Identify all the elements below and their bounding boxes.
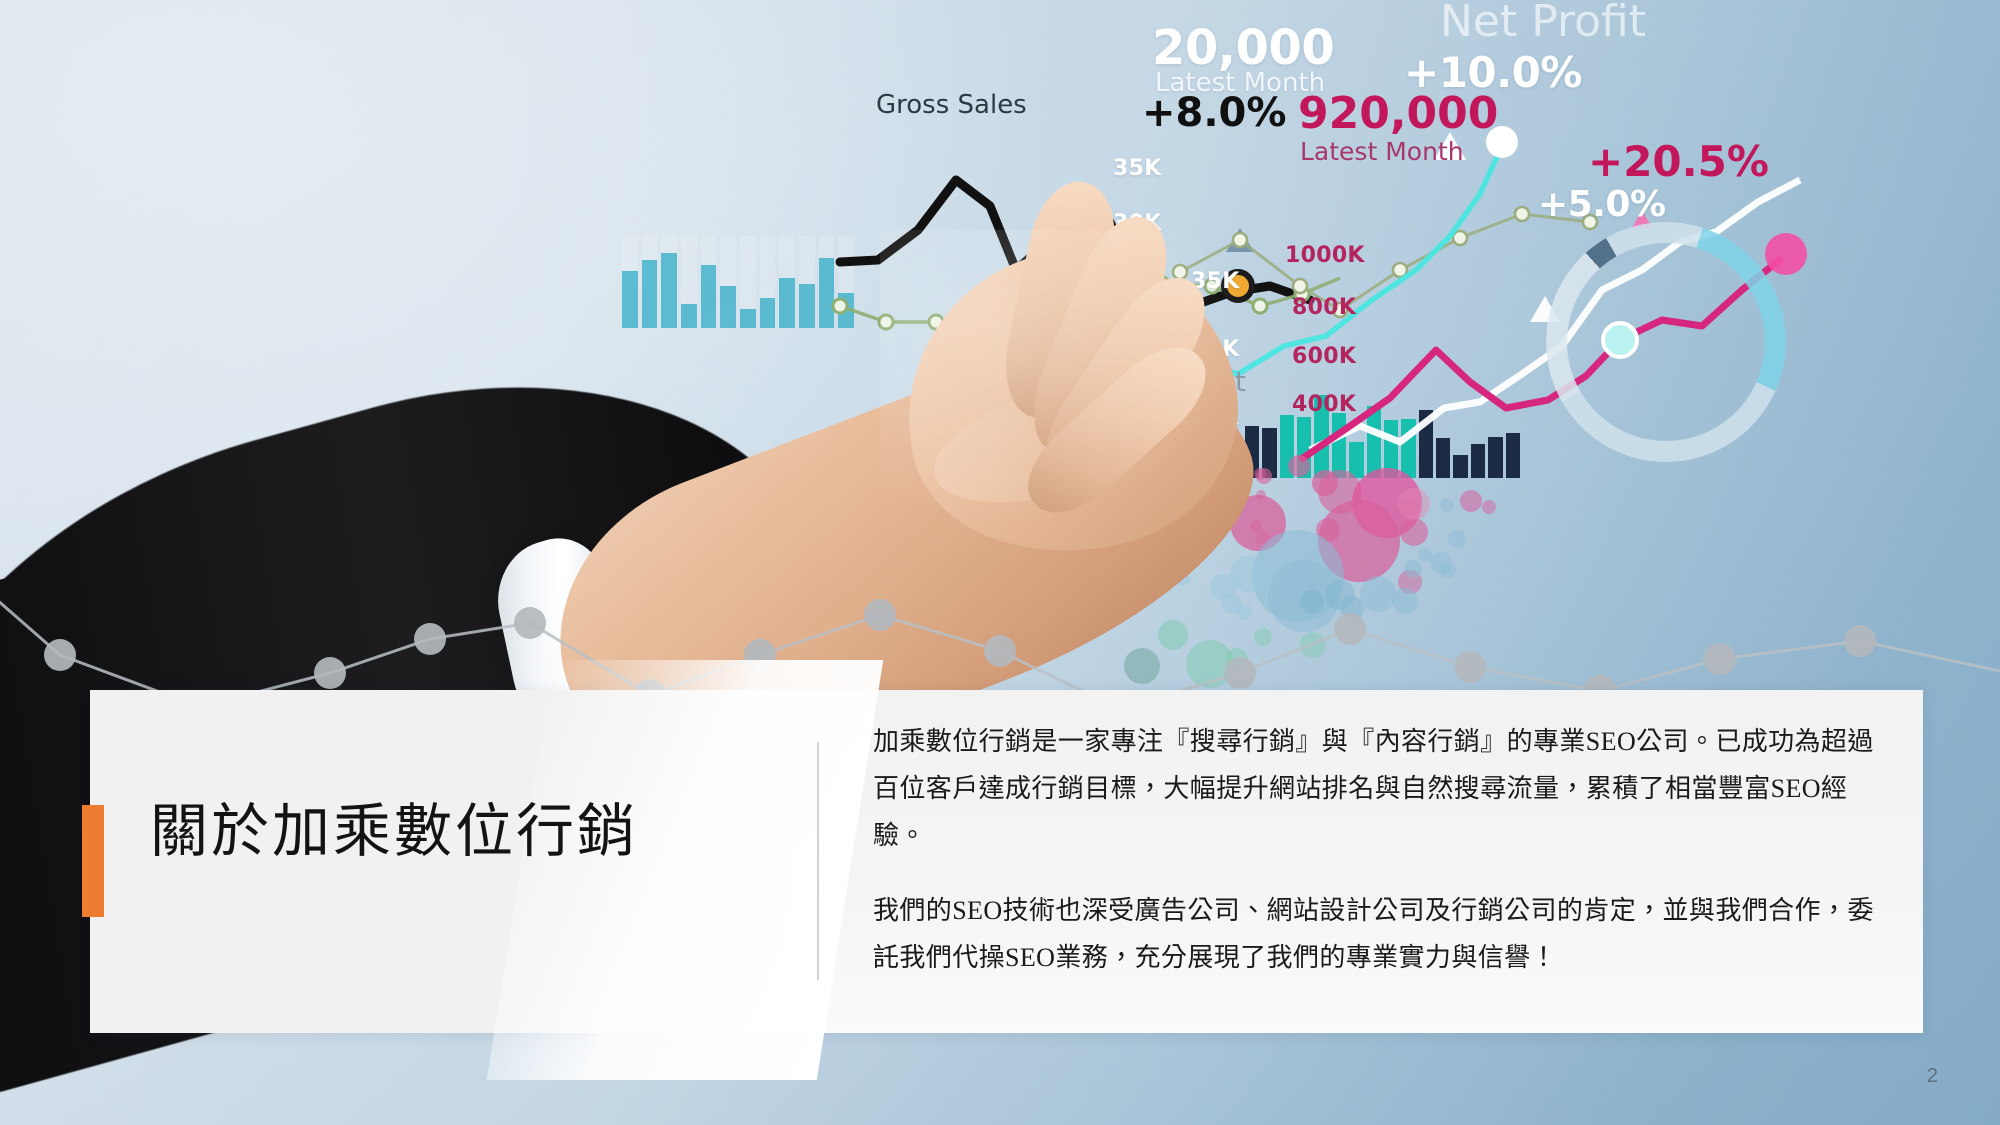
tick-right-400k: 400K — [1292, 392, 1356, 417]
tick-left-35k: 35K — [1113, 156, 1162, 181]
content-card: 關於加乘數位行銷 加乘數位行銷是一家專注『搜尋行銷』與『內容行銷』的專業SEO公… — [90, 690, 1923, 1033]
latest-month-revenue-caption: Latest Month — [1300, 137, 1464, 166]
share-donut-chart — [1546, 222, 1786, 462]
body-paragraph-2: 我們的SEO技術也深受廣告公司、網站設計公司及行銷公司的肯定，並與我們合作，委託… — [873, 887, 1883, 981]
slide-canvas: Gross Sales Net Profit Interest 20,000 L… — [0, 0, 2000, 1125]
latest-month-revenue-value: 920,000 — [1298, 88, 1498, 139]
tick-right-800k: 800K — [1292, 295, 1356, 320]
body-text: 加乘數位行銷是一家專注『搜尋行銷』與『內容行銷』的專業SEO公司。已成功為超過百… — [873, 718, 1883, 981]
gross-sales-label: Gross Sales — [876, 90, 1027, 120]
page-number: 2 — [1927, 1065, 1938, 1088]
vertical-divider — [817, 742, 819, 980]
gross-sales-delta-value: +8.0% — [1142, 90, 1286, 136]
tick-right-600k: 600K — [1292, 344, 1356, 369]
body-paragraph-1: 加乘數位行銷是一家專注『搜尋行銷』與『內容行銷』的專業SEO公司。已成功為超過百… — [873, 718, 1883, 859]
secondary-delta-value: +5.0% — [1538, 184, 1666, 225]
page-title: 關於加乘數位行銷 — [150, 784, 770, 868]
accent-bar — [82, 805, 104, 917]
left-mini-bars-chart — [622, 236, 854, 328]
tick-right-1000k: 1000K — [1285, 243, 1365, 268]
net-profit-label: Net Profit — [1440, 0, 1646, 47]
card-light-swoosh — [487, 660, 884, 1080]
revenue-delta-value: +20.5% — [1588, 137, 1769, 186]
